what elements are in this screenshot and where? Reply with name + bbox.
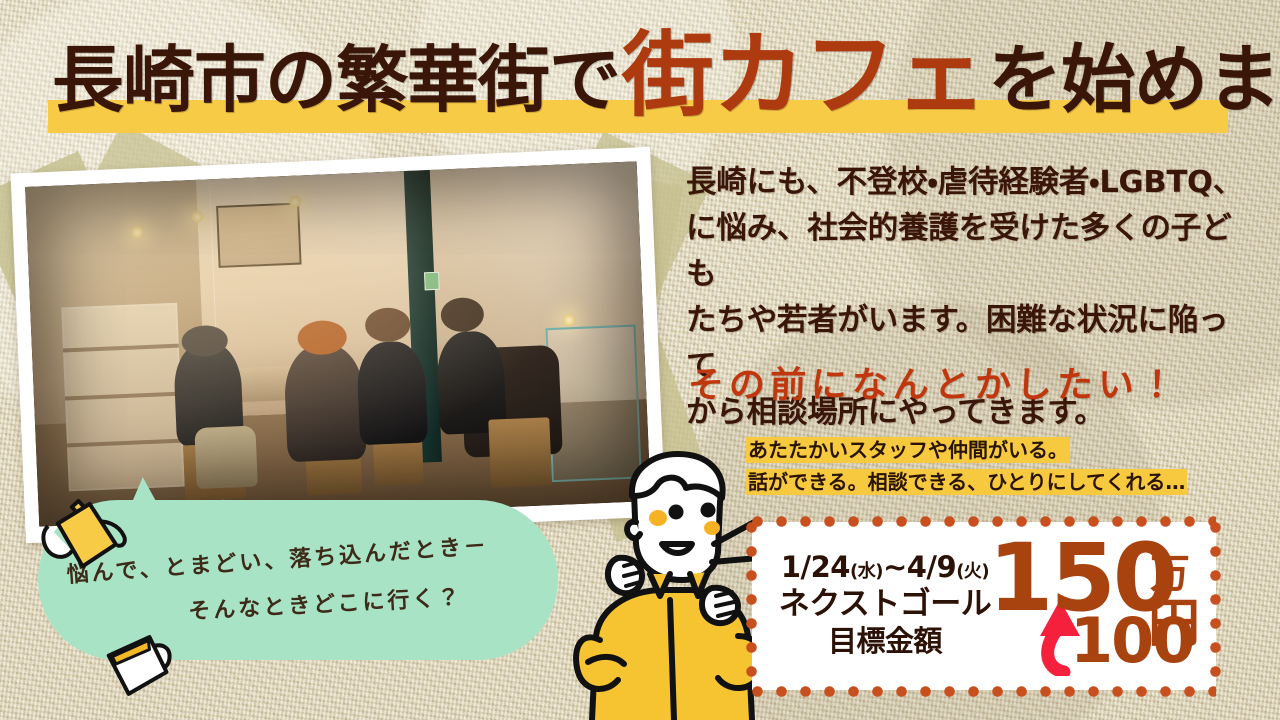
date-start: 1/24 [781, 550, 850, 584]
title-part-dark-1: 長崎市の繁華街で [52, 44, 620, 116]
date-end: ~4/9 [883, 550, 956, 584]
unit-man: 万 [1150, 554, 1190, 594]
highlight-line-2: 話ができる。相談できる、ひとりにしてくれる… [746, 469, 1187, 495]
body-line-2: に悩み、社会的養護を受けた多くの子ども [686, 206, 1252, 298]
cafe-photo [25, 161, 651, 526]
speech-bubble-text: 悩んで、とまどい、落ち込んだとき－ そんなときどこに行く？ [58, 540, 558, 616]
date-start-weekday: (水) [850, 561, 883, 582]
date-end-weekday: (火) [956, 561, 989, 582]
body-line-1: 長崎にも、不登校・虐待経験者・LGBTQ、 [686, 160, 1252, 206]
next-goal-label: ネクストゴール [760, 586, 1010, 623]
goal-amount-label: 目標金額 [760, 624, 1010, 659]
title-part-dark-2: を始めます! [988, 43, 1280, 117]
unit-yen: 円 [1148, 598, 1200, 650]
goal-amount-block: 100 150 万 円 [1000, 528, 1216, 686]
page-title: 長崎市の繁華街で 街カフェ を始めます! [52, 34, 1252, 126]
sub-headline: その前になんとかしたい！ [687, 356, 1181, 408]
highlighted-copy: あたたかいスタッフや仲間がいる。 話ができる。相談できる、ひとりにしてくれる… [746, 436, 1266, 500]
title-part-red: 街カフェ [622, 30, 986, 122]
poster-canvas: 長崎市の繁華街で 街カフェ を始めます! 長崎にも、不登校・虐待経験者・LGBT… [0, 0, 1280, 720]
goal-card-left-text: 1/24(水)~4/9(火) ネクストゴール 目標金額 [760, 552, 1010, 658]
campaign-date-range: 1/24(水)~4/9(火) [760, 552, 1010, 582]
highlight-line-1: あたたかいスタッフや仲間がいる。 [746, 437, 1070, 463]
